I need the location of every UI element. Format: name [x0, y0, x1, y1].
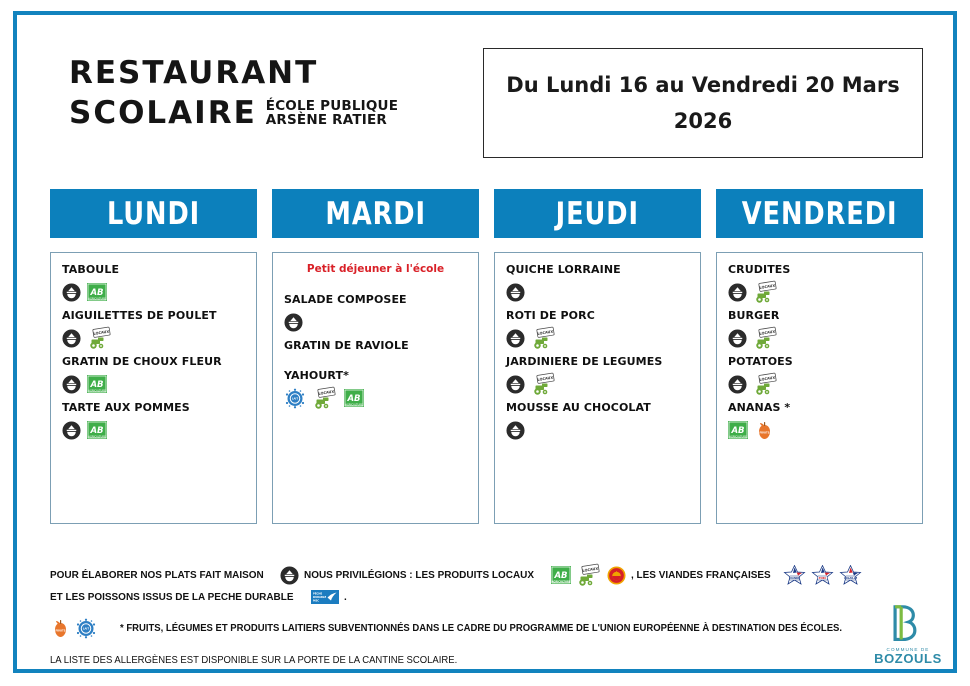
- eu-milk-icon: LAIT: [284, 388, 306, 409]
- svg-text:VIANDE: VIANDE: [789, 576, 800, 580]
- fait-maison-icon: [506, 329, 525, 348]
- produits-locaux-icon: LOCAUX: [753, 280, 779, 304]
- fait-maison-icon: [280, 566, 299, 585]
- svg-text:AGRICULTURE: AGRICULTURE: [88, 296, 106, 300]
- menu-dish: ROTI DE PORCLOCAUX: [506, 309, 689, 351]
- menu-poster: RESTAURANT SCOLAIRE ÉCOLE PUBLIQUE ARSÈN…: [13, 11, 957, 673]
- day-header-jeudi: JEUDI: [494, 189, 701, 238]
- produits-locaux-icon: LOCAUX: [312, 386, 338, 410]
- menu-dish: TABOULEABAGRICULTURE: [62, 263, 245, 305]
- day-column: VENDREDICRUDITESLOCAUXBURGERLOCAUXPOTATO…: [716, 189, 923, 524]
- svg-text:MSC: MSC: [313, 599, 319, 603]
- svg-text:AB: AB: [346, 394, 360, 404]
- dish-name: ROTI DE PORC: [506, 309, 689, 322]
- produits-locaux-icon: LOCAUX: [531, 372, 557, 396]
- menu-dish: ANANAS *ABAGRICULTUREFRUITS: [728, 401, 911, 443]
- brand-line-2: SCOLAIRE: [69, 93, 257, 133]
- svg-text:AB: AB: [89, 426, 103, 436]
- fait-maison-icon: [506, 421, 525, 440]
- svg-text:VOLAILLE: VOLAILLE: [844, 576, 858, 580]
- dish-icon-row: [506, 417, 689, 443]
- fait-maison-icon: [728, 375, 747, 394]
- svg-text:AGRICULTURE: AGRICULTURE: [729, 434, 747, 438]
- ab-bio-icon: ABAGRICULTURE: [344, 389, 364, 407]
- menu-dish: TARTE AUX POMMESABAGRICULTURE: [62, 401, 245, 443]
- dish-name: MOUSSE AU CHOCOLAT: [506, 401, 689, 414]
- eu-milk-icon: LAIT: [75, 618, 97, 639]
- dish-icon-row: LOCAUX: [728, 279, 911, 305]
- fait-maison-icon: [62, 421, 81, 440]
- dish-icon-row: LOCAUX: [506, 325, 689, 351]
- svg-text:AGRICULTURE: AGRICULTURE: [551, 579, 571, 583]
- bozouls-name-label: BOZOULS: [869, 652, 947, 666]
- produits-locaux-icon: LOCAUX: [87, 326, 113, 350]
- special-note: Petit déjeuner à l'école: [284, 263, 467, 275]
- ab-bio-icon: AB AGRICULTURE: [551, 566, 571, 584]
- bozouls-b-icon: [885, 603, 931, 646]
- menu-dish: POTATOESLOCAUX: [728, 355, 911, 397]
- svg-text:AB: AB: [89, 288, 103, 298]
- date-range-text: Du Lundi 16 au Vendredi 20 Mars 2026: [498, 67, 908, 139]
- dish-icon-row: LOCAUX: [728, 371, 911, 397]
- svg-text:AB: AB: [730, 426, 744, 436]
- legend-line-2-period: .: [344, 591, 347, 603]
- legend-produits-locaux-text: NOUS PRIVILÉGIONS : LES PRODUITS LOCAUX: [304, 568, 534, 583]
- dish-name: TABOULE: [62, 263, 245, 276]
- legend-viandes-francaises-text: , LES VIANDES FRANÇAISES: [631, 568, 771, 583]
- produits-locaux-icon: LOCAUX: [576, 563, 602, 587]
- legend-fait-maison-text: POUR ÉLABORER NOS PLATS FAIT MAISON: [50, 568, 264, 583]
- day-header-label: VENDREDI: [742, 196, 898, 232]
- legend-line-1: POUR ÉLABORER NOS PLATS FAIT MAISON NOUS…: [50, 563, 930, 587]
- bozouls-logo: COMMUNE DE BOZOULS: [869, 603, 947, 666]
- legend-allergenes-note: LA LISTE DES ALLERGÈNES EST DISPONIBLE S…: [50, 655, 886, 666]
- fait-maison-icon: [728, 329, 747, 348]
- fait-maison-icon: [506, 283, 525, 302]
- menu-dish: JARDINIERE DE LEGUMESLOCAUX: [506, 355, 689, 397]
- fait-maison-icon: [728, 283, 747, 302]
- dish-icon-row: [506, 279, 689, 305]
- dish-icon-row: ABAGRICULTURE: [62, 417, 245, 443]
- dish-name: JARDINIERE DE LEGUMES: [506, 355, 689, 368]
- svg-text:FRUITS: FRUITS: [759, 430, 769, 434]
- dish-icon-row: LOCAUX: [62, 325, 245, 351]
- school-name-line-2: ARSÈNE RATIER: [266, 114, 398, 128]
- viande-francaise-icon-1: VIANDE: [783, 565, 806, 585]
- svg-text:FRUITS: FRUITS: [55, 629, 65, 633]
- dish-name: TARTE AUX POMMES: [62, 401, 245, 414]
- svg-text:AGRICULTURE: AGRICULTURE: [88, 434, 106, 438]
- day-header-mardi: MARDI: [272, 189, 479, 238]
- dish-name: GRATIN DE RAVIOLE: [284, 339, 467, 352]
- day-column: LUNDITABOULEABAGRICULTUREAIGUILETTES DE …: [50, 189, 257, 524]
- ab-bio-icon: ABAGRICULTURE: [87, 421, 107, 439]
- ab-bio-icon: ABAGRICULTURE: [87, 375, 107, 393]
- day-menu-card: QUICHE LORRAINEROTI DE PORCLOCAUXJARDINI…: [494, 252, 701, 524]
- dish-name: POTATOES: [728, 355, 911, 368]
- menu-dish: CRUDITESLOCAUX: [728, 263, 911, 305]
- fait-maison-icon: [62, 329, 81, 348]
- fait-maison-icon: [62, 375, 81, 394]
- fait-maison-icon: [284, 313, 303, 332]
- legend-eu-program: FRUITS L: [50, 618, 930, 639]
- ab-bio-icon: ABAGRICULTURE: [728, 421, 748, 439]
- day-column: JEUDIQUICHE LORRAINEROTI DE PORCLOCAUXJA…: [494, 189, 701, 524]
- menu-dish: GRATIN DE CHOUX FLEURABAGRICULTURE: [62, 355, 245, 397]
- school-name: ÉCOLE PUBLIQUE ARSÈNE RATIER: [266, 100, 398, 133]
- menu-dish: GRATIN DE RAVIOLE: [284, 339, 467, 365]
- svg-text:AB: AB: [554, 571, 568, 581]
- week-menu-grid: LUNDITABOULEABAGRICULTUREAIGUILETTES DE …: [50, 189, 930, 524]
- menu-dish: BURGERLOCAUX: [728, 309, 911, 351]
- dish-spacer: [284, 355, 467, 365]
- day-header-lundi: LUNDI: [50, 189, 257, 238]
- dish-name: ANANAS *: [728, 401, 911, 414]
- dish-name: AIGUILETTES DE POULET: [62, 309, 245, 322]
- day-column: MARDIPetit déjeuner à l'écoleSALADE COMP…: [272, 189, 479, 524]
- svg-text:LAIT: LAIT: [83, 627, 89, 631]
- eu-fruit-icon: FRUITS: [50, 618, 71, 639]
- viande-francaise-icon-3: VOLAILLE: [839, 565, 862, 585]
- menu-dish: YAHOURT*LAITLOCAUXABAGRICULTURE: [284, 369, 467, 411]
- restaurant-brand: RESTAURANT SCOLAIRE ÉCOLE PUBLIQUE ARSÈN…: [69, 53, 469, 133]
- brand-line-1: RESTAURANT: [69, 53, 469, 93]
- svg-text:DURABLE: DURABLE: [313, 595, 326, 599]
- dish-icon-row: LOCAUX: [506, 371, 689, 397]
- poster-header: RESTAURANT SCOLAIRE ÉCOLE PUBLIQUE ARSÈN…: [17, 15, 953, 165]
- dish-name: GRATIN DE CHOUX FLEUR: [62, 355, 245, 368]
- svg-text:AB: AB: [89, 380, 103, 390]
- dish-icon-row: ABAGRICULTURE: [62, 279, 245, 305]
- fait-maison-icon: [506, 375, 525, 394]
- dish-name: QUICHE LORRAINE: [506, 263, 689, 276]
- legend-star-note: * FRUITS, LÉGUMES ET PRODUITS LAITIERS S…: [120, 623, 842, 634]
- legend-footer: POUR ÉLABORER NOS PLATS FAIT MAISON NOUS…: [50, 563, 930, 666]
- svg-text:AGRICULTURE: AGRICULTURE: [345, 402, 363, 406]
- legend-peche-durable-text: ET LES POISSONS ISSUS DE LA PECHE DURABL…: [50, 591, 294, 603]
- produits-locaux-icon: LOCAUX: [753, 326, 779, 350]
- fait-maison-icon: [62, 283, 81, 302]
- svg-text:AGRICULTURE: AGRICULTURE: [88, 388, 106, 392]
- svg-text:LAIT: LAIT: [292, 396, 298, 400]
- dish-icon-row: ABAGRICULTURE: [62, 371, 245, 397]
- day-header-label: JEUDI: [556, 196, 639, 232]
- menu-dish: AIGUILETTES DE POULETLOCAUX: [62, 309, 245, 351]
- menu-dish: SALADE COMPOSEE: [284, 293, 467, 335]
- produits-locaux-icon: LOCAUX: [531, 326, 557, 350]
- dish-name: CRUDITES: [728, 263, 911, 276]
- ab-bio-icon: ABAGRICULTURE: [87, 283, 107, 301]
- legend-line-2: ET LES POISSONS ISSUS DE LA PECHE DURABL…: [50, 590, 930, 604]
- eu-fruit-icon: FRUITS: [754, 420, 775, 441]
- dish-name: BURGER: [728, 309, 911, 322]
- dish-name: SALADE COMPOSEE: [284, 293, 467, 306]
- dish-name: YAHOURT*: [284, 369, 467, 382]
- day-menu-card: TABOULEABAGRICULTUREAIGUILETTES DE POULE…: [50, 252, 257, 524]
- sud-de-france-icon: [607, 566, 626, 585]
- day-header-vendredi: VENDREDI: [716, 189, 923, 238]
- day-menu-card: Petit déjeuner à l'écoleSALADE COMPOSEEG…: [272, 252, 479, 524]
- svg-text:PORC: PORC: [819, 576, 827, 580]
- viande-francaise-icon-2: PORC: [811, 565, 834, 585]
- menu-dish: MOUSSE AU CHOCOLAT: [506, 401, 689, 443]
- dish-icon-row: LOCAUX: [728, 325, 911, 351]
- dish-icon-row: [284, 309, 467, 335]
- dish-icon-row: ABAGRICULTUREFRUITS: [728, 417, 911, 443]
- msc-peche-durable-icon: PÊCHE DURABLE MSC: [311, 590, 339, 604]
- produits-locaux-icon: LOCAUX: [753, 372, 779, 396]
- menu-dish: QUICHE LORRAINE: [506, 263, 689, 305]
- day-header-label: MARDI: [325, 196, 426, 232]
- day-menu-card: CRUDITESLOCAUXBURGERLOCAUXPOTATOESLOCAUX…: [716, 252, 923, 524]
- date-range-box: Du Lundi 16 au Vendredi 20 Mars 2026: [483, 48, 923, 158]
- day-header-label: LUNDI: [107, 196, 200, 232]
- dish-icon-row: LAITLOCAUXABAGRICULTURE: [284, 385, 467, 411]
